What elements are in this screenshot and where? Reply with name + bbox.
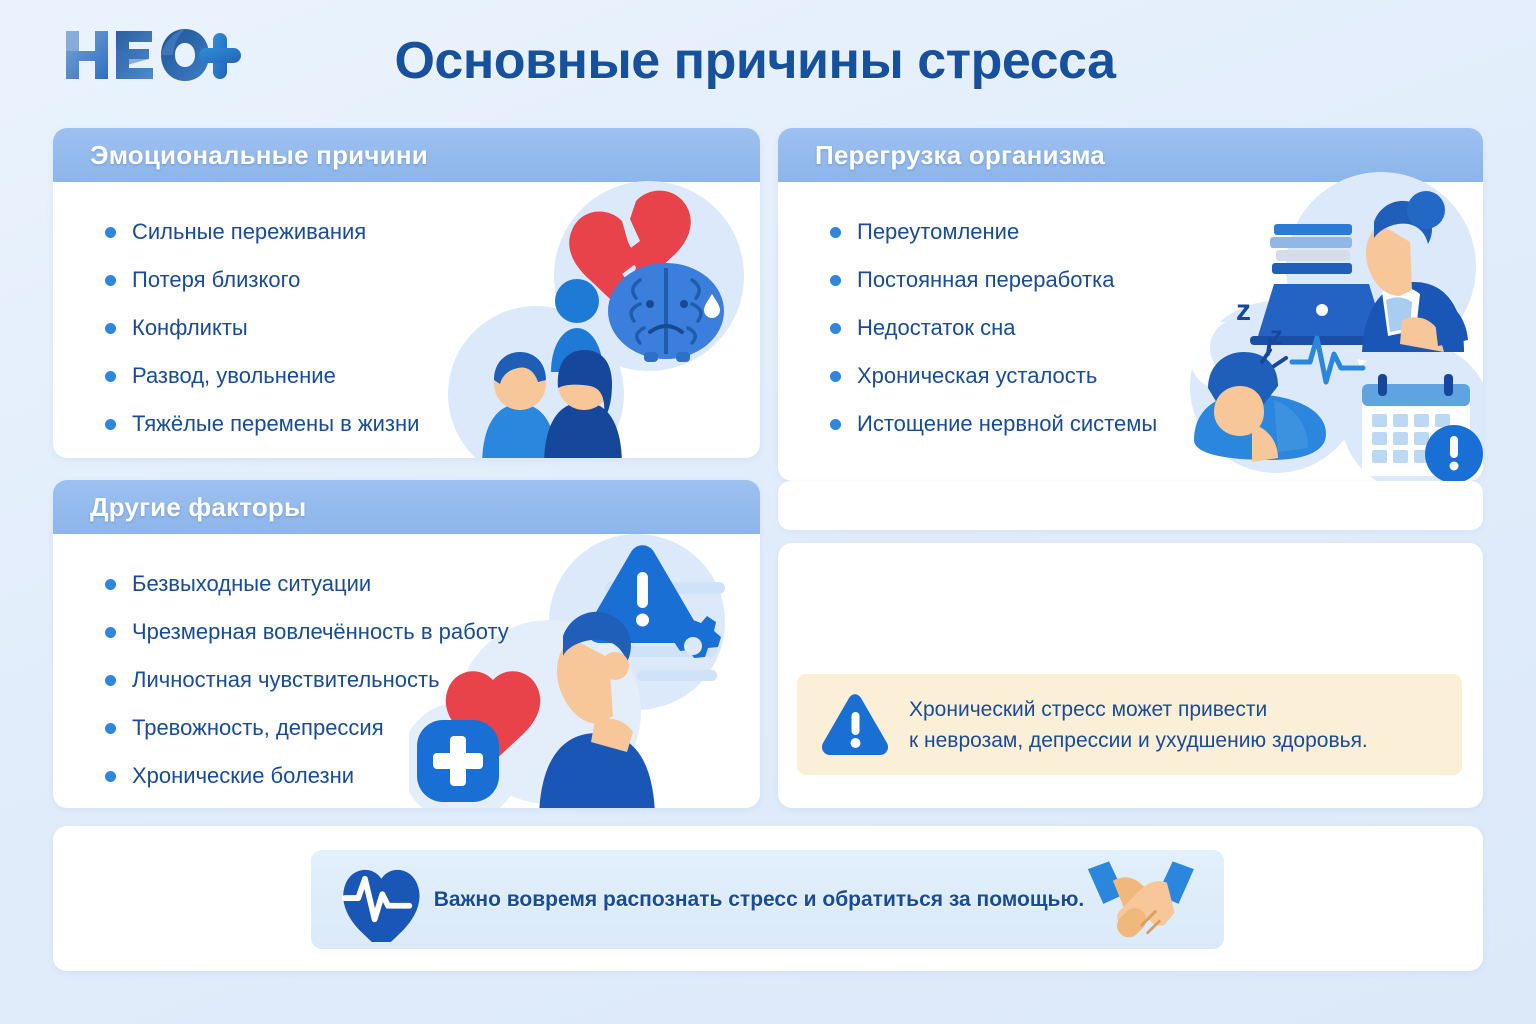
card-overload-header: Перегрузка организма [778,128,1483,182]
warning-text-block: Хронический стресс может привести к невр… [909,694,1368,756]
list-item-label: Конфликты [132,315,248,341]
list-item-label: Потеря близкого [132,267,300,293]
brand-logo [58,22,248,94]
handshake-icon [1084,852,1198,948]
card-emotional-list: Сильные переживания Потеря близкого Конф… [53,182,760,448]
bullet-icon [105,323,116,334]
list-item-label: Хронические болезни [132,763,354,789]
card-warning-panel: Хронический стресс может привести к невр… [778,543,1483,808]
list-item-label: Чрезмерная вовлечённость в работу [132,619,509,645]
footer-banner: Важно вовремя распознать стресс и обрати… [311,850,1224,949]
list-item: Чрезмерная вовлечённость в работу [53,608,760,656]
list-item: Переутомление [778,208,1483,256]
list-item: Истощение нервной системы [778,400,1483,448]
page-title: Основные причины стресса [355,22,1155,100]
bullet-icon [105,371,116,382]
list-item-label: Постоянная переработка [857,267,1114,293]
warning-callout: Хронический стресс может привести к невр… [797,674,1462,775]
list-item: Развод, увольнение [53,352,760,400]
list-item-label: Переутомление [857,219,1019,245]
card-footer-panel: Важно вовремя распознать стресс и обрати… [53,826,1483,971]
card-other-factors: Другие факторы [53,480,760,808]
warning-line-2: к неврозам, депрессии и ухудшению здоров… [909,725,1368,756]
right-column-spacer-panel [778,481,1483,530]
list-item: Тревожность, депрессия [53,704,760,752]
card-overload-title: Перегрузка организма [815,140,1105,171]
list-item-label: Хроническая усталость [857,363,1097,389]
bullet-icon [830,371,841,382]
bullet-icon [830,323,841,334]
list-item: Потеря близкого [53,256,760,304]
list-item-label: Безвыходные ситуации [132,571,371,597]
warning-line-1: Хронический стресс может привести [909,694,1368,725]
list-item: Хроническая усталость [778,352,1483,400]
card-emotional-title: Эмоциональные причини [90,140,428,171]
card-emotional-header: Эмоциональные причини [53,128,760,182]
list-item: Тяжёлые перемены в жизни [53,400,760,448]
list-item: Личностная чувствительность [53,656,760,704]
heart-pulse-icon [337,858,426,942]
bullet-icon [105,723,116,734]
list-item: Недостаток сна [778,304,1483,352]
bullet-icon [105,771,116,782]
bullet-icon [105,579,116,590]
footer-message: Важно вовремя распознать стресс и обрати… [434,888,1085,912]
list-item-label: Истощение нервной системы [857,411,1157,437]
bullet-icon [105,627,116,638]
list-item: Конфликты [53,304,760,352]
list-item: Сильные переживания [53,208,760,256]
page-header: Основные причины стресса [0,0,1536,118]
card-other-title: Другие факторы [90,492,306,523]
card-other-header: Другие факторы [53,480,760,534]
card-body-overload: Перегрузка организма [778,128,1483,481]
bullet-icon [105,275,116,286]
list-item-label: Развод, увольнение [132,363,336,389]
bullet-icon [830,275,841,286]
card-emotional-body: Сильные переживания Потеря близкого Конф… [53,182,760,458]
card-other-body: Безвыходные ситуации Чрезмерная вовлечён… [53,534,760,808]
bullet-icon [105,227,116,238]
list-item: Постоянная переработка [778,256,1483,304]
list-item: Хронические болезни [53,752,760,800]
card-emotional-causes: Эмоциональные причини [53,128,760,458]
list-item-label: Тревожность, депрессия [132,715,384,741]
list-item-label: Недостаток сна [857,315,1015,341]
bullet-icon [105,675,116,686]
list-item-label: Тяжёлые перемены в жизни [132,411,419,437]
list-item: Безвыходные ситуации [53,560,760,608]
card-overload-body: z z [778,182,1483,481]
bullet-icon [830,419,841,430]
card-other-list: Безвыходные ситуации Чрезмерная вовлечён… [53,534,760,800]
neo-plus-logo-icon [58,25,248,91]
list-item-label: Личностная чувствительность [132,667,440,693]
bullet-icon [105,419,116,430]
bullet-icon [830,227,841,238]
list-item-label: Сильные переживания [132,219,366,245]
warning-triangle-icon [819,693,891,757]
card-overload-list: Переутомление Постоянная переработка Нед… [778,182,1483,448]
